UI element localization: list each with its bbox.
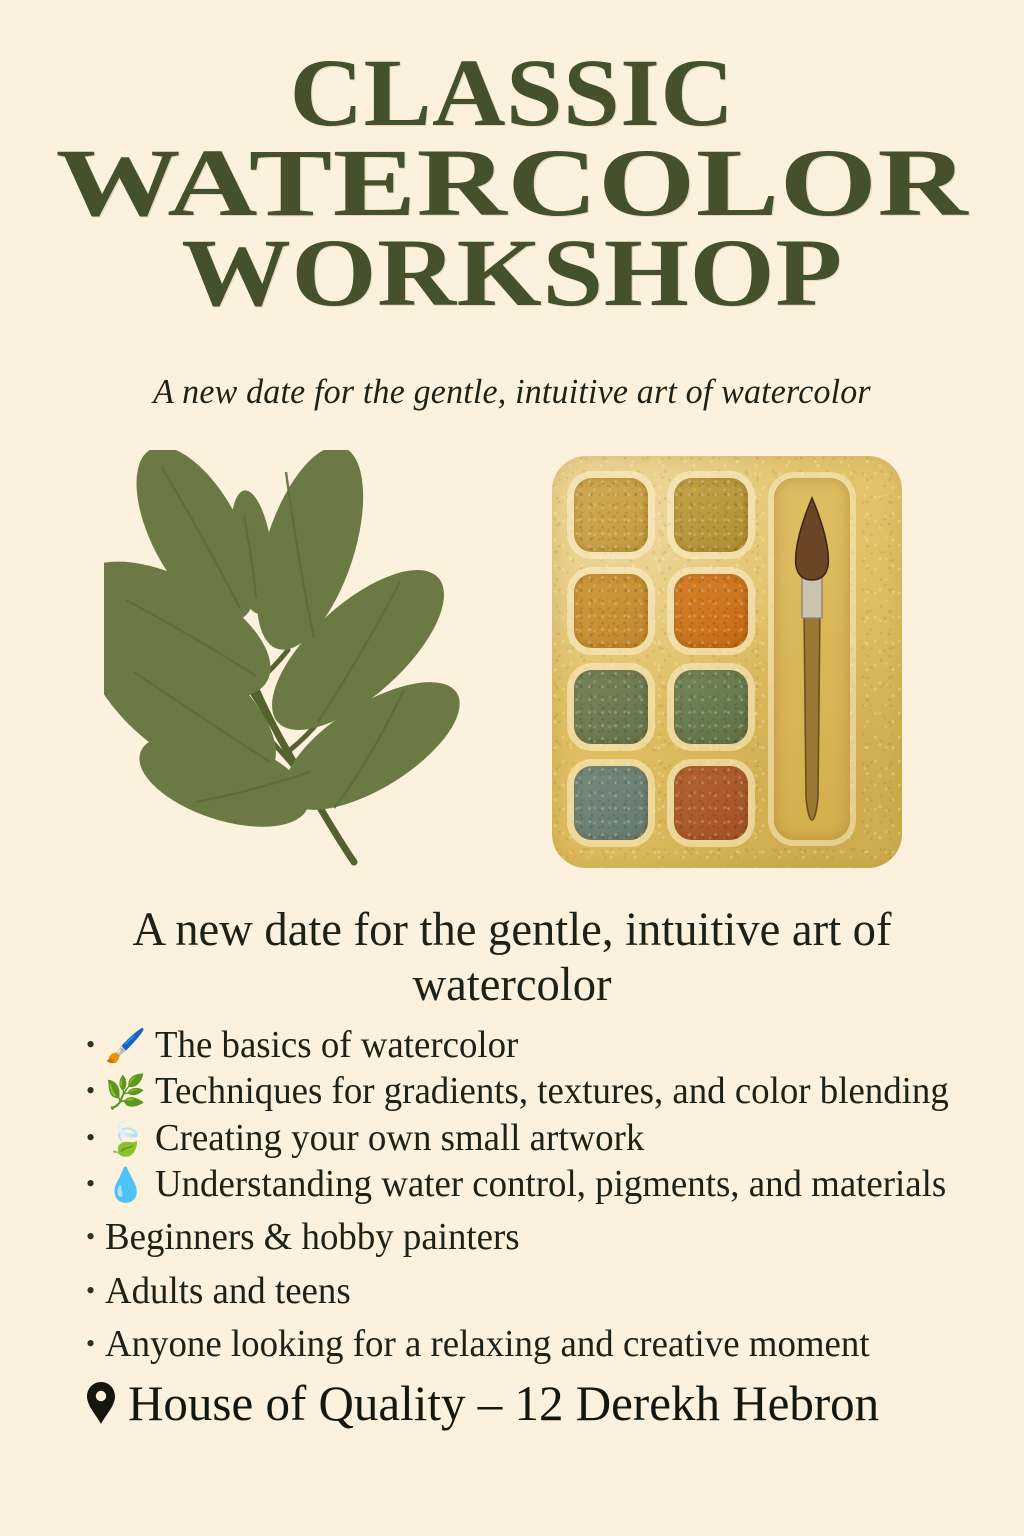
feature-list: • 🖌️ The basics of watercolor • 🌿 Techni…	[86, 1022, 986, 1368]
location-pin-icon	[86, 1381, 116, 1425]
list-item-label: Beginners & hobby painters	[105, 1214, 520, 1260]
bullet-marker: •	[86, 1224, 95, 1250]
well-texture	[674, 766, 748, 840]
well-texture	[574, 574, 648, 648]
branch-svg	[104, 450, 474, 875]
leaf-emoji: 🍃	[105, 1124, 146, 1157]
paint-well-amber	[574, 574, 648, 648]
paint-well-terracotta	[674, 766, 748, 840]
droplet-emoji: 💧	[105, 1170, 146, 1203]
brush-slot	[774, 478, 850, 840]
list-item: • 🍃 Creating your own small artwork	[86, 1115, 986, 1161]
paint-well-olive-gold	[674, 478, 748, 552]
list-item-label: The basics of watercolor	[155, 1022, 518, 1068]
poster-subtitle: A new date for the gentle, intuitive art…	[15, 372, 1008, 412]
list-item-label: Understanding water control, pigments, a…	[155, 1161, 946, 1207]
well-texture	[574, 766, 648, 840]
paint-well-yellow-ochre	[574, 478, 648, 552]
paintbrush-emoji: 🖌️	[105, 1031, 146, 1064]
list-item: • 💧 Understanding water control, pigment…	[86, 1161, 986, 1207]
body-headline: A new date for the gentle, intuitive art…	[108, 902, 915, 1012]
well-texture	[574, 478, 648, 552]
poster-title: CLASSIC WATERCOLOR WORKSHOP	[0, 48, 1024, 319]
bullet-marker: •	[86, 1171, 95, 1197]
well-texture	[674, 670, 748, 744]
list-item-label: Anyone looking for a relaxing and creati…	[105, 1321, 870, 1367]
list-item-label: Creating your own small artwork	[155, 1115, 644, 1161]
list-item-label: Adults and teens	[105, 1268, 351, 1314]
bullet-marker: •	[86, 1032, 95, 1058]
paint-well-burnt-orange	[674, 574, 748, 648]
paint-well-sage-green	[574, 670, 648, 744]
bullet-marker: •	[86, 1078, 95, 1104]
well-texture	[674, 574, 748, 648]
illustration-row	[0, 450, 1024, 880]
well-texture	[574, 670, 648, 744]
list-item: • 🖌️ The basics of watercolor	[86, 1022, 986, 1068]
watercolor-palette-illustration	[552, 456, 902, 868]
paint-well-grey-green	[574, 766, 648, 840]
bullet-marker: •	[86, 1125, 95, 1151]
herb-emoji: 🌿	[105, 1077, 146, 1110]
paint-well-olive-green	[674, 670, 748, 744]
paintbrush-icon	[774, 478, 850, 840]
venue-label: House of Quality – 12 Derekh Hebron	[128, 1374, 879, 1432]
title-line-3: WORKSHOP	[0, 228, 1024, 318]
list-item: • Adults and teens	[86, 1268, 986, 1314]
title-line-2: WATERCOLOR	[0, 138, 1024, 228]
venue-line: House of Quality – 12 Derekh Hebron	[86, 1374, 986, 1432]
olive-branch-illustration	[104, 450, 474, 875]
list-item: • Anyone looking for a relaxing and crea…	[86, 1321, 986, 1367]
well-texture	[674, 478, 748, 552]
list-item-label: Techniques for gradients, textures, and …	[155, 1068, 949, 1114]
bullet-marker: •	[86, 1331, 95, 1357]
list-item: • 🌿 Techniques for gradients, textures, …	[86, 1068, 986, 1114]
poster-canvas: CLASSIC WATERCOLOR WORKSHOP A new date f…	[0, 0, 1024, 1536]
title-line-1: CLASSIC	[0, 48, 1024, 138]
bullet-marker: •	[86, 1278, 95, 1304]
list-item: • Beginners & hobby painters	[86, 1214, 986, 1260]
